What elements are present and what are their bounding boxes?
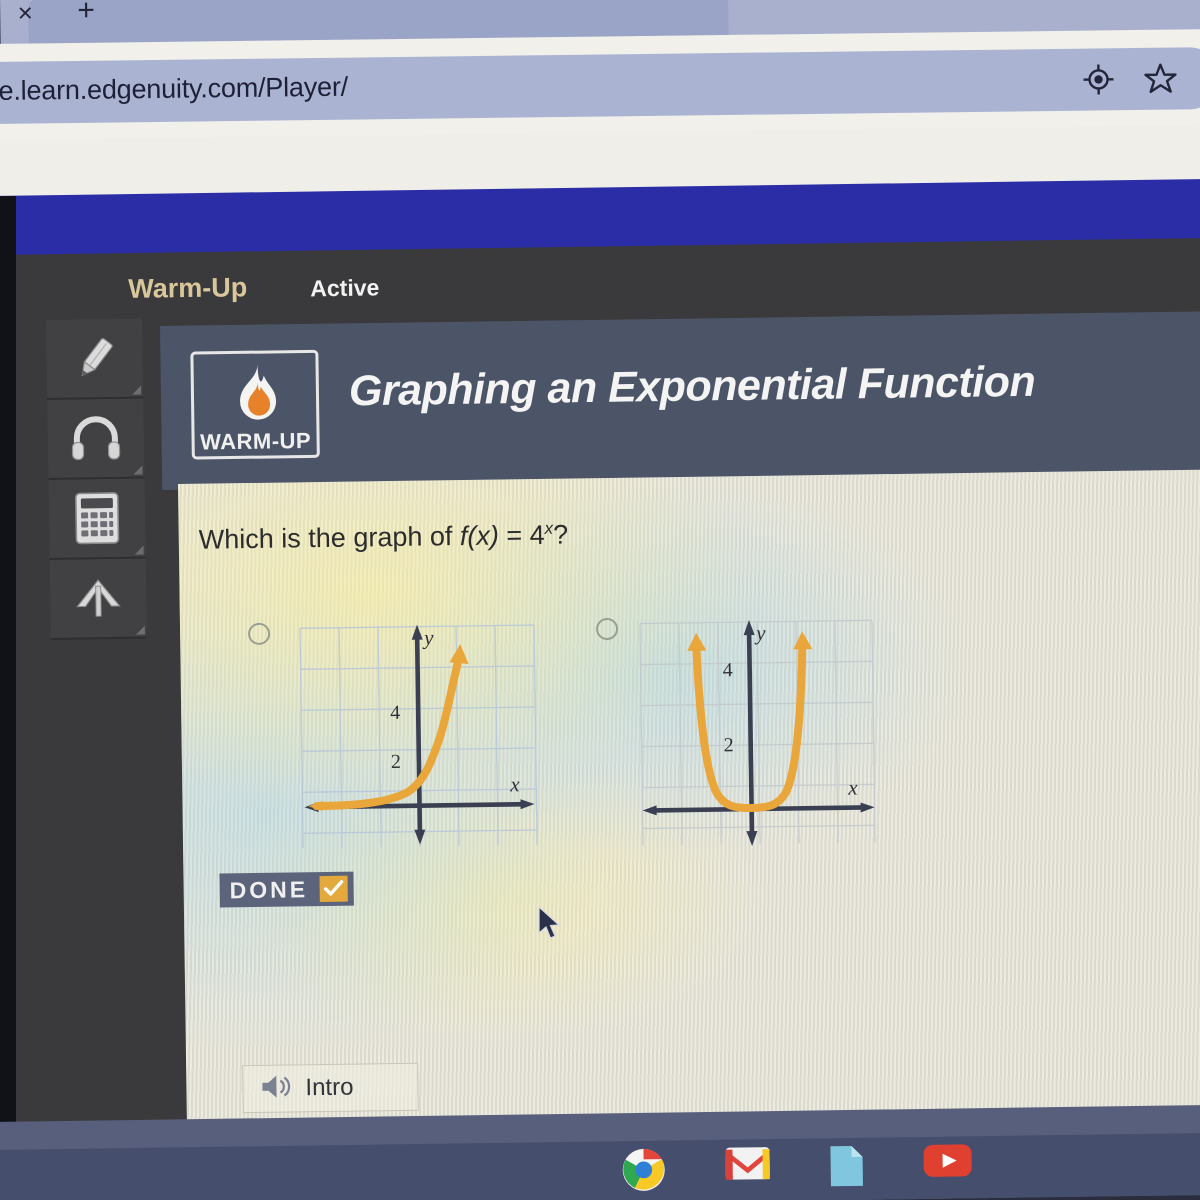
mouse-cursor	[537, 905, 563, 948]
svg-text:2: 2	[724, 734, 734, 756]
done-button-label: DONE	[229, 876, 308, 904]
svg-text:y: y	[422, 625, 434, 649]
graph-option-b[interactable]: 4 2 x y	[632, 614, 885, 856]
sidebar-item-calculator[interactable]	[49, 478, 146, 559]
breadcrumb-section[interactable]: Warm-Up	[128, 272, 247, 305]
os-dock	[620, 1142, 973, 1198]
done-button[interactable]: DONE	[219, 872, 354, 908]
docs-icon[interactable]	[828, 1144, 865, 1195]
radio-option-a[interactable]	[248, 623, 270, 645]
new-tab-icon[interactable]: +	[68, 0, 104, 29]
lesson-content-panel: Which is the graph of f(x) = 4x?	[178, 469, 1200, 1122]
sidebar-item-notes[interactable]	[46, 318, 143, 399]
warmup-badge-label: WARM-UP	[194, 428, 316, 456]
chrome-icon[interactable]	[620, 1147, 667, 1199]
svg-text:2: 2	[391, 751, 401, 773]
sidebar-item-glossary[interactable]	[50, 558, 147, 639]
intro-button-label: Intro	[305, 1074, 353, 1103]
svg-text:4: 4	[390, 702, 400, 724]
question-equals: = 4	[499, 520, 545, 551]
question-prefix: Which is the graph of	[199, 521, 461, 555]
close-icon[interactable]: ×	[8, 0, 42, 30]
intro-button[interactable]: Intro	[242, 1063, 419, 1113]
svg-text:4: 4	[723, 659, 733, 681]
address-bar[interactable]: e.learn.edgenuity.com/Player/	[0, 47, 1200, 124]
radio-option-b[interactable]	[596, 618, 618, 640]
gmail-icon[interactable]	[724, 1145, 771, 1197]
question-suffix: ?	[553, 520, 568, 550]
question-arg: (x)	[467, 521, 499, 551]
headphones-icon	[66, 412, 125, 465]
calculator-icon	[72, 490, 123, 547]
check-icon	[320, 876, 348, 902]
svg-text:y: y	[754, 621, 766, 645]
warmup-badge: WARM-UP	[190, 350, 319, 460]
os-taskbar-dock-strip	[0, 1133, 1200, 1200]
target-icon[interactable]	[1080, 61, 1116, 97]
url-text: e.learn.edgenuity.com/Player/	[0, 72, 348, 107]
glossary-icon	[67, 572, 130, 625]
flame-icon	[227, 359, 284, 437]
os-taskbar	[0, 1105, 1200, 1200]
screen-photo: × + e.learn.edgenuity.com/Player/	[0, 0, 1200, 1200]
svg-text:x: x	[847, 776, 858, 800]
page-title: Graphing an Exponential Function	[349, 358, 1036, 417]
star-icon[interactable]	[1142, 60, 1178, 96]
breadcrumb-status: Active	[310, 274, 379, 302]
graph-option-a[interactable]: 4 2 x y	[292, 619, 547, 859]
question-text: Which is the graph of f(x) = 4x?	[199, 519, 569, 556]
pencil-icon	[65, 329, 124, 388]
sidebar-item-audio[interactable]	[47, 398, 144, 479]
lesson-header: WARM-UP Graphing an Exponential Function	[160, 311, 1200, 490]
svg-text:x: x	[509, 772, 520, 796]
youtube-icon[interactable]	[922, 1142, 973, 1194]
screen-bezel-left	[0, 196, 16, 1200]
speaker-icon	[259, 1072, 293, 1105]
tool-rail	[46, 318, 147, 645]
